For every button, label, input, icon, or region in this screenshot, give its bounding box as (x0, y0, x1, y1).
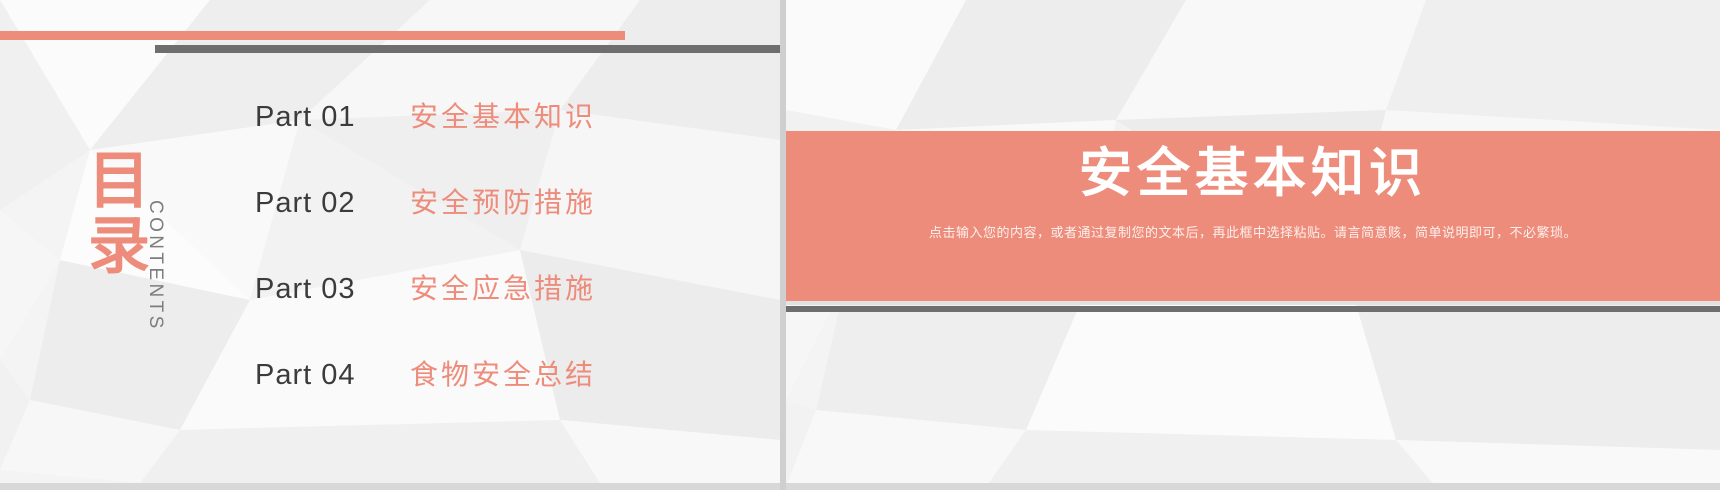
band-rule-highlight (786, 301, 1720, 305)
list-item[interactable]: Part 03 安全应急措施 (255, 267, 715, 353)
toc-section-title: 安全基本知识 (410, 95, 596, 135)
slide-bottom-strip (0, 483, 780, 490)
toc-section-title: 食物安全总结 (410, 353, 596, 393)
toc-part-label: Part 03 (255, 273, 410, 306)
toc-section-title: 安全预防措施 (410, 181, 596, 221)
toc-part-label: Part 02 (255, 187, 410, 220)
toc-section-title: 安全应急措施 (410, 267, 596, 307)
grey-rule-top (155, 45, 780, 53)
list-item[interactable]: Part 02 安全预防措施 (255, 181, 715, 267)
toc-list: Part 01 安全基本知识 Part 02 安全预防措施 Part 03 安全… (255, 95, 715, 439)
contents-heading-en: CONTENTS (144, 200, 166, 332)
list-item[interactable]: Part 01 安全基本知识 (255, 95, 715, 181)
accent-bar-top (0, 31, 625, 40)
toc-part-label: Part 04 (255, 359, 410, 392)
contents-heading: 目 录 CONTENTS (78, 148, 198, 353)
slide-deck: 目 录 CONTENTS Part 01 安全基本知识 Part 02 安全预防… (0, 0, 1720, 490)
list-item[interactable]: Part 04 食物安全总结 (255, 353, 715, 439)
grey-rule-bottom (786, 306, 1720, 312)
slide-bottom-strip (786, 483, 1720, 490)
slide-section-divider[interactable]: 安全基本知识 点击输入您的内容，或者通过复制您的文本后，再此框中选择粘贴。请言简… (786, 0, 1720, 490)
section-body-text: 点击输入您的内容，或者通过复制您的文本后，再此框中选择粘贴。请言简意赅，简单说明… (898, 221, 1608, 247)
slide-table-of-contents[interactable]: 目 录 CONTENTS Part 01 安全基本知识 Part 02 安全预防… (0, 0, 780, 490)
section-title-band: 安全基本知识 点击输入您的内容，或者通过复制您的文本后，再此框中选择粘贴。请言简… (786, 131, 1720, 301)
toc-part-label: Part 01 (255, 101, 410, 134)
page-title: 安全基本知识 (1079, 145, 1427, 203)
